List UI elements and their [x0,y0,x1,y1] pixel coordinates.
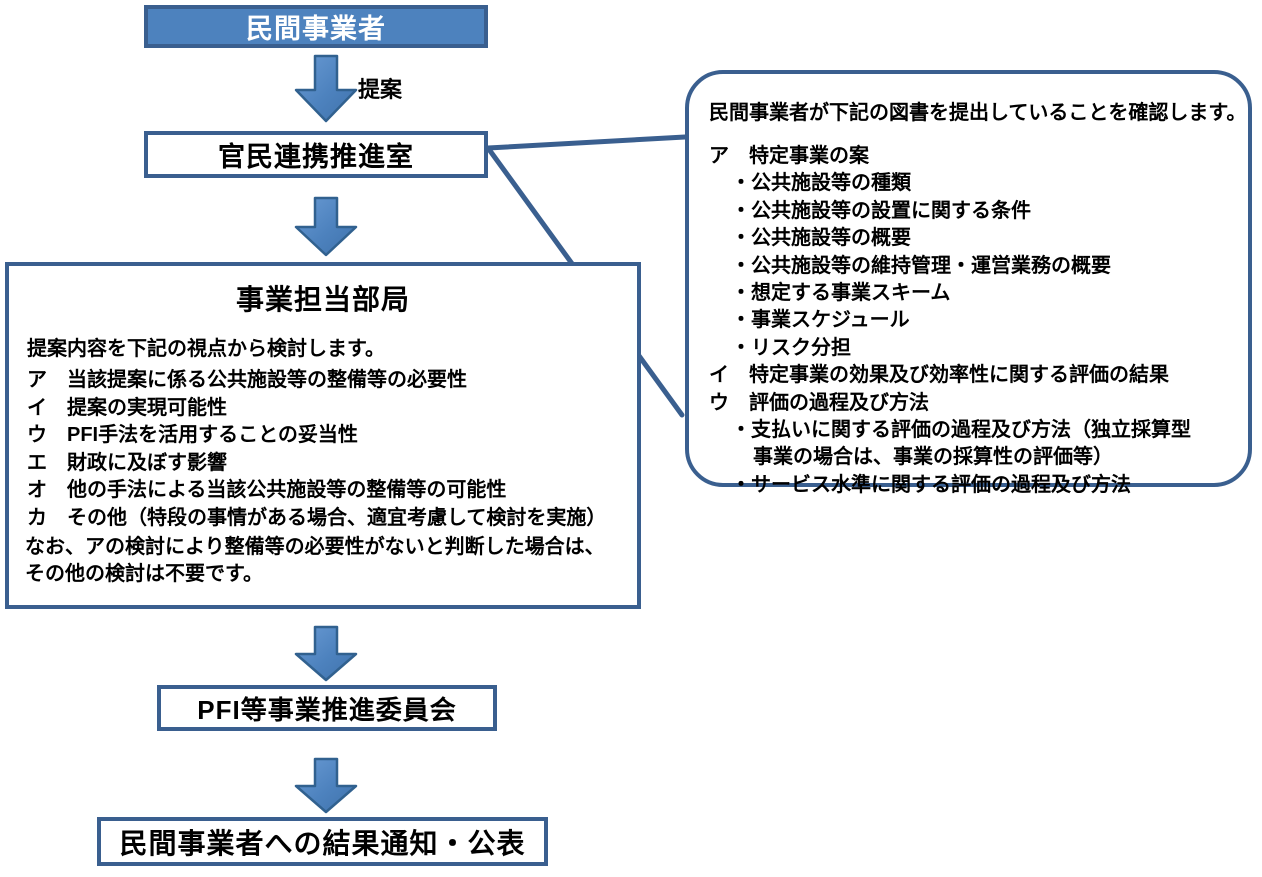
node-department-label: 事業担当部局 [23,278,623,318]
list-item: ・公共施設等の維持管理・運営業務の概要 [731,253,1232,280]
department-lead-text: 提案内容を下記の視点から検討します。 [27,332,623,361]
department-criteria-list: ア 当該提案に係る公共施設等の整備等の必要性 イ 提案の実現可能性 ウ PFI手… [23,367,623,533]
list-item: ・公共施設等の設置に関する条件 [731,198,1232,225]
list-item: ・公共施設等の概要 [731,225,1232,252]
node-ppp-office-label: 官民連携推進室 [218,135,414,174]
arrow-committee-to-result [290,757,362,815]
callout-lead-text: 民間事業者が下記の図書を提出していることを確認します。 [709,96,1232,125]
arrow-proposal [290,54,362,124]
node-ppp-office[interactable]: 官民連携推進室 [144,131,488,178]
list-item: ・想定する事業スキーム [731,280,1232,307]
list-item: ウ PFI手法を活用することの妥当性 [27,422,623,450]
list-item: ・事業スケジュール [731,307,1232,334]
list-item: ・リスク分担 [731,335,1232,362]
list-item: ア 特定事業の案 [709,143,1232,170]
list-item: ウ 評価の過程及び方法 [709,390,1232,417]
arrow-proposal-label: 提案 [358,72,402,104]
list-item: オ 他の手法による当該公共施設等の整備等の可能性 [27,477,623,505]
list-item: エ 財政に及ぼす影響 [27,450,623,478]
node-department[interactable]: 事業担当部局 提案内容を下記の視点から検討します。 ア 当該提案に係る公共施設等… [5,262,641,609]
list-item: ア 当該提案に係る公共施設等の整備等の必要性 [27,367,623,395]
list-item: イ 特定事業の効果及び効率性に関する評価の結果 [709,362,1232,389]
node-private-operator-label: 民間事業者 [246,7,386,46]
arrow-office-to-department [290,196,362,258]
list-item: ・サービス水準に関する評価の過程及び方法 [731,472,1232,499]
node-committee-label: PFI等事業推進委員会 [197,690,456,727]
list-item: カ その他（特段の事情がある場合、適宜考慮して検討を実施） [27,505,623,533]
department-note-line-2: その他の検討は不要です。 [25,562,623,588]
list-item: ・公共施設等の種類 [731,170,1232,197]
node-result-label: 民間事業者への結果通知・公表 [119,822,525,862]
flowchart-canvas: 民間事業者 提案 官民連携推進室 事 [0,0,1262,877]
node-submission-checklist-callout[interactable]: 民間事業者が下記の図書を提出していることを確認します。 ア 特定事業の案 ・公共… [685,70,1252,487]
department-note-line-1: なお、アの検討により整備等の必要性がないと判断した場合は、 [25,535,623,561]
list-item: ・支払いに関する評価の過程及び方法（独立採算型 [731,417,1232,444]
node-private-operator[interactable]: 民間事業者 [144,5,488,48]
list-item: 事業の場合は、事業の採算性の評価等） [753,444,1232,471]
node-committee[interactable]: PFI等事業推進委員会 [157,685,497,731]
arrow-department-to-committee [290,625,362,683]
callout-document-list: ア 特定事業の案 ・公共施設等の種類 ・公共施設等の設置に関する条件 ・公共施設… [707,143,1232,499]
list-item: イ 提案の実現可能性 [27,395,623,423]
node-result[interactable]: 民間事業者への結果通知・公表 [97,817,548,866]
